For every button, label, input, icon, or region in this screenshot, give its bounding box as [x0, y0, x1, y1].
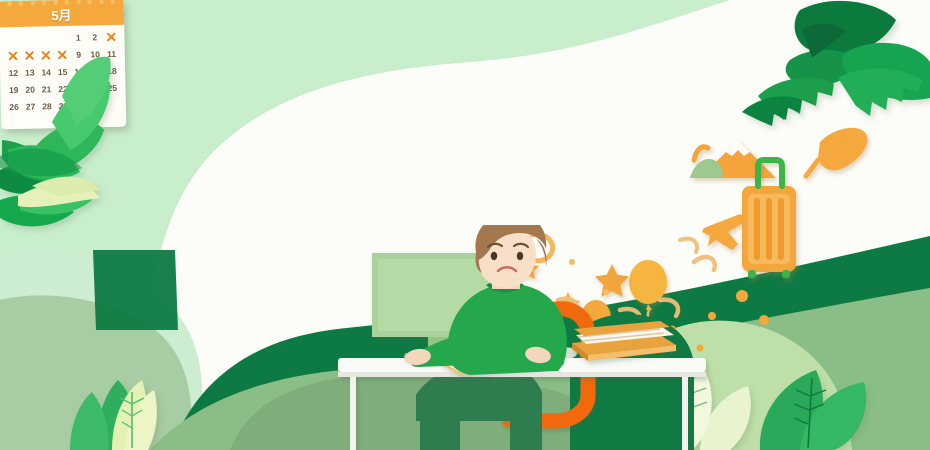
- eye: [491, 252, 497, 260]
- feather-icon: [806, 128, 867, 176]
- eye: [517, 252, 523, 260]
- health-sign-banner: 5月 ....12✕✕✕✕✕91011121314151617181920212…: [0, 0, 930, 450]
- person-head: [475, 225, 546, 289]
- desk-scene: [320, 225, 740, 450]
